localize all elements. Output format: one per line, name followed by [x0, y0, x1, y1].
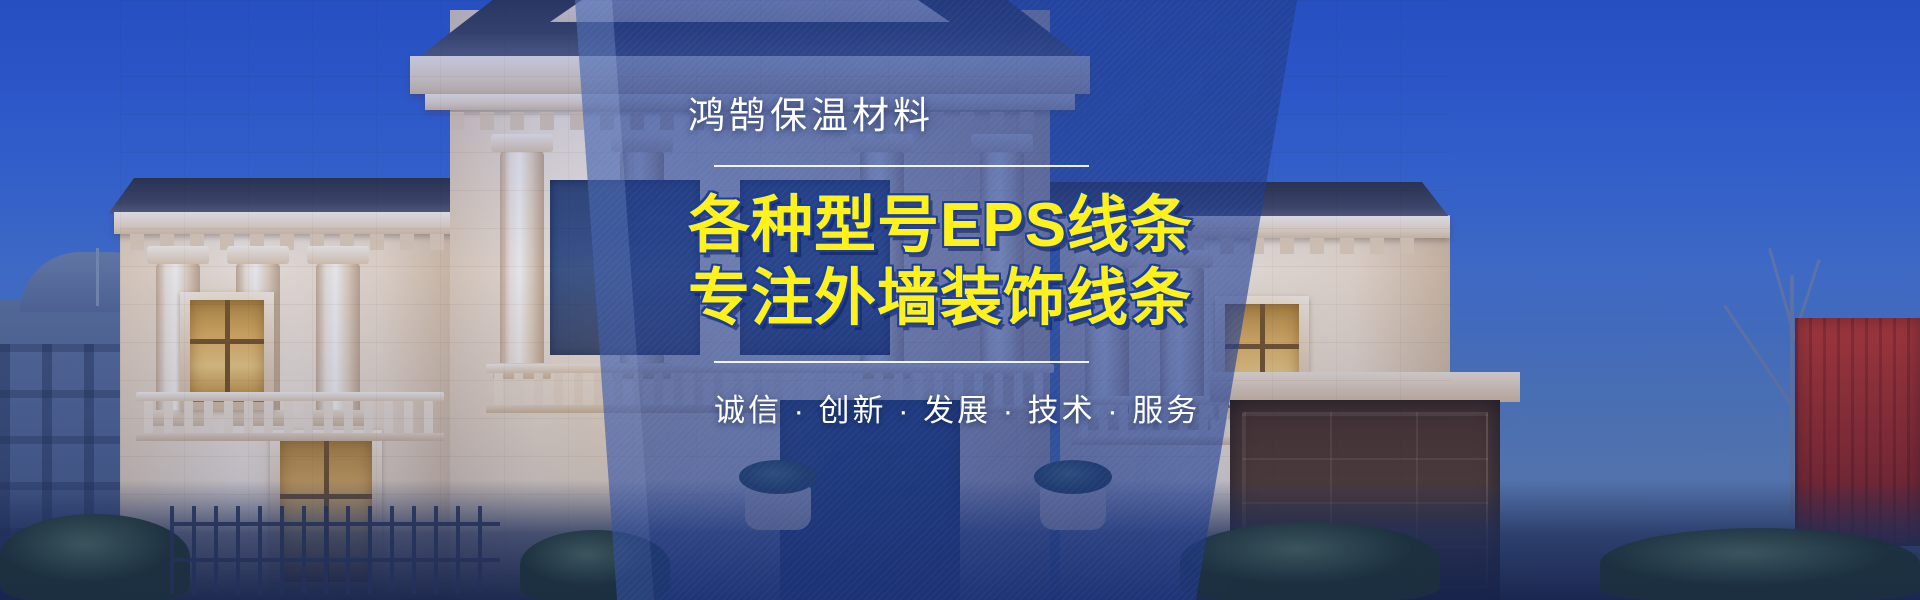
divider-bottom	[714, 361, 1089, 363]
headline-line-2: 专注外墙装饰线条	[688, 262, 1308, 335]
headline-line-1: 各种型号EPS线条	[688, 189, 1308, 262]
brand-name: 鸿鹄保温材料	[688, 96, 1308, 137]
shrub	[0, 514, 190, 600]
background-spire	[96, 248, 99, 306]
banner-copy-block: 鸿鹄保温材料 各种型号EPS线条 专注外墙装饰线条 诚信 · 创新 · 发展 ·…	[688, 96, 1308, 430]
hero-banner: 鸿鹄保温材料 各种型号EPS线条 专注外墙装饰线条 诚信 · 创新 · 发展 ·…	[0, 0, 1920, 600]
shrub	[1600, 528, 1920, 600]
divider-top	[714, 165, 1089, 167]
iron-fence	[170, 506, 500, 594]
tagline: 诚信 · 创新 · 发展 · 技术 · 服务	[714, 385, 1308, 430]
shrub	[1180, 522, 1440, 600]
